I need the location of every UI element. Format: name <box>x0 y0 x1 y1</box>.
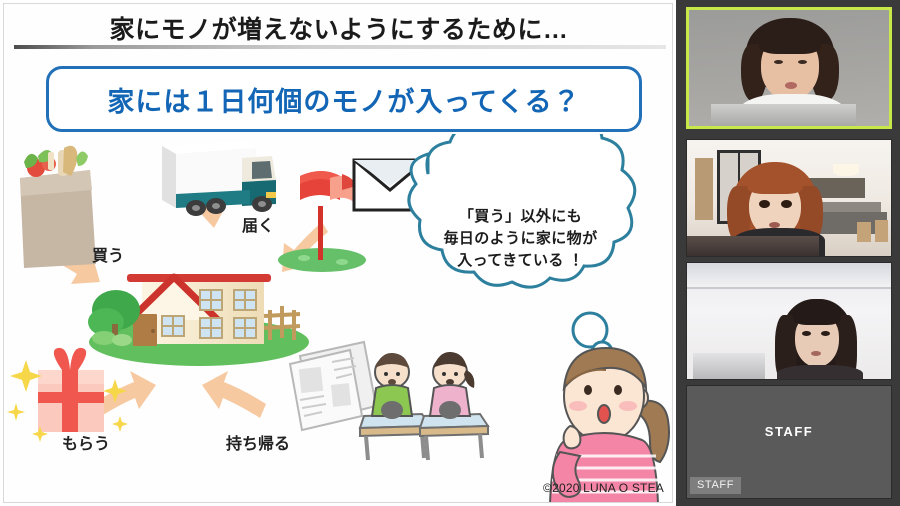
thought-bubble-line-1: 「買う」以外にも <box>408 206 633 228</box>
cycle-label-morau: もらう <box>62 430 110 454</box>
laptop-blur-overlay <box>693 353 765 379</box>
video-tile-participant-2[interactable] <box>686 139 892 257</box>
grocery-bag-icon <box>20 146 96 268</box>
cycle-label-mochikaeru: 持ち帰る <box>226 430 290 454</box>
cycle-label-todoku: 届く <box>242 212 274 236</box>
video-feed-participant-1 <box>689 10 889 126</box>
video-tile-participant-3[interactable] <box>686 262 892 380</box>
thought-bubble-line-2: 毎日のように家に物が <box>408 228 633 250</box>
house-icon <box>88 274 309 366</box>
video-tile-staff[interactable]: STAFF STAFF <box>686 385 892 499</box>
video-conference-window: 家にモノが増えないようにするために… 家には１日何個のモノが入ってくる？ <box>0 0 900 506</box>
question-callout-text: 家には１日何個のモノが入ってくる？ <box>107 80 580 119</box>
video-gallery-panel: STAFF STAFF <box>676 0 900 506</box>
thought-bubble-text: 「買う」以外にも 毎日のように家に物が 入ってきている ！ <box>408 206 633 271</box>
school-desks-icon <box>360 352 488 460</box>
delivery-truck-icon <box>162 140 276 216</box>
cycle-label-kau: 買う <box>92 242 124 266</box>
copyright-notice: ©2020 LUNA O STEA <box>4 481 664 495</box>
thinking-woman-icon <box>550 348 669 503</box>
thought-bubble-line-3: 入ってきている ！ <box>408 250 633 272</box>
question-callout-box: 家には１日何個のモノが入ってくる？ <box>46 66 642 132</box>
cycle-diagram: 買う 届く 持ち帰る もらう 「買う」以外にも 毎日のように家に物が 入ってきて… <box>4 134 673 503</box>
slide-frame: 家にモノが増えないようにするために… 家には１日何個のモノが入ってくる？ <box>3 3 673 503</box>
shared-screen-area[interactable]: 家にモノが増えないようにするために… 家には１日何個のモノが入ってくる？ <box>0 0 676 506</box>
slide-title: 家にモノが増えないようにするために… <box>4 10 673 46</box>
staff-placeholder-text: STAFF <box>687 424 891 439</box>
laptop-blur-overlay <box>711 104 856 126</box>
video-feed-participant-3 <box>687 263 891 379</box>
video-tile-participant-1[interactable] <box>686 7 892 129</box>
participant-name-badge-staff: STAFF <box>690 477 741 494</box>
desk-blur-overlay <box>687 236 819 256</box>
title-divider-rule <box>14 45 666 49</box>
video-feed-participant-2 <box>687 140 891 256</box>
